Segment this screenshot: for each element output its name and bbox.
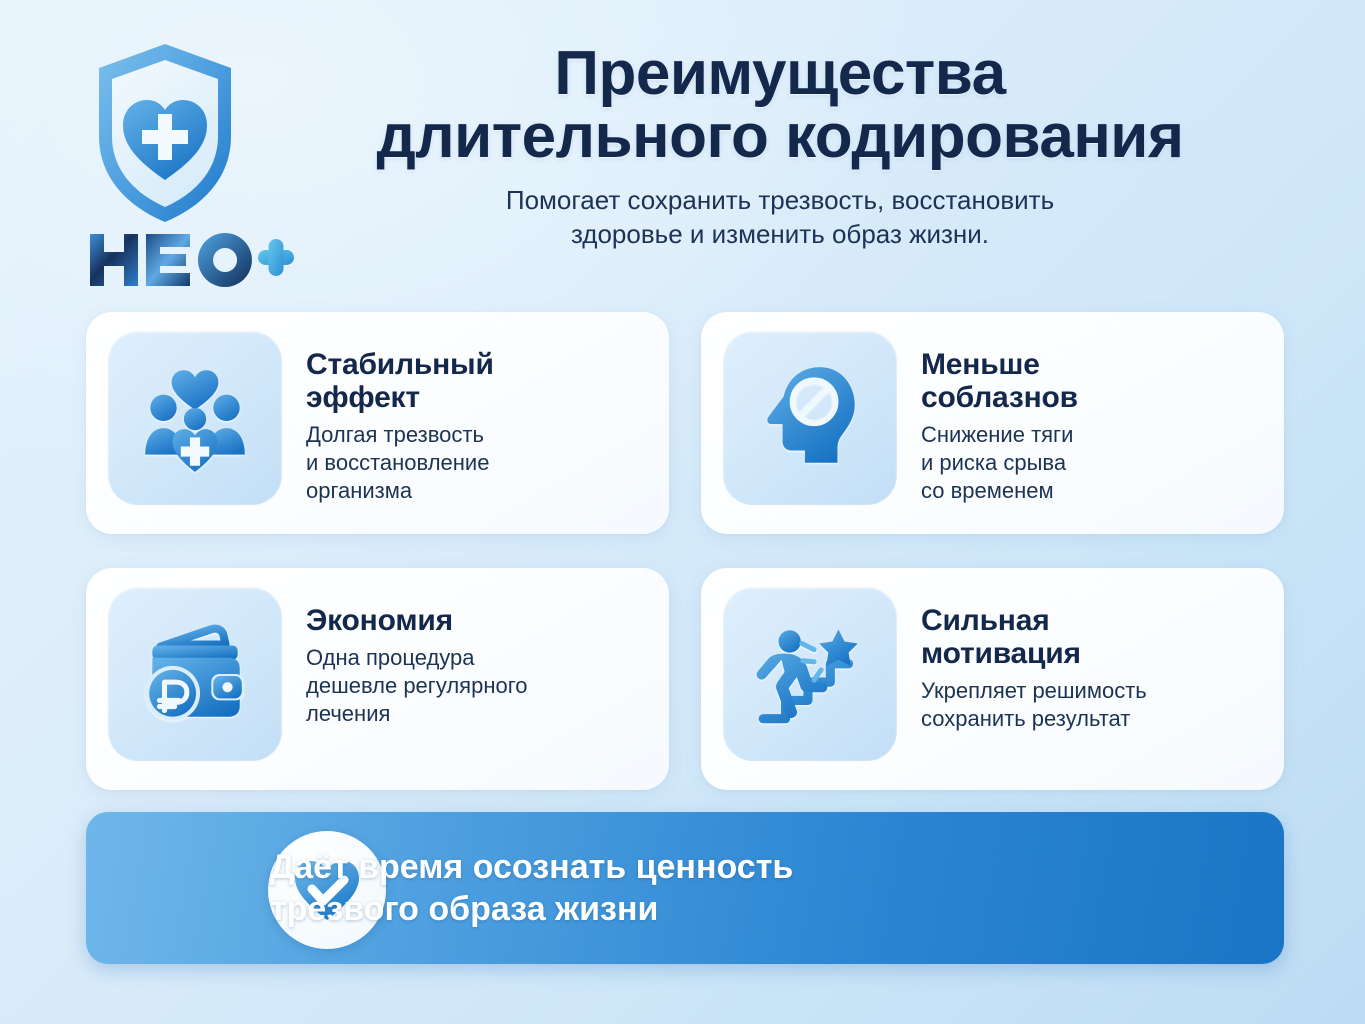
head-prohibition-icon [749, 357, 871, 479]
summary-banner-line-1: Даёт время осознать ценность [270, 846, 793, 888]
icon-tile [108, 331, 282, 505]
card-description: Долгая трезвость и восстановление органи… [306, 421, 494, 505]
card-title-line-2: соблазнов [921, 381, 1078, 414]
card-title-line-1: Сильная [921, 604, 1050, 637]
card-title-line-1: Экономия [306, 604, 453, 637]
family-heart-plus-icon [134, 357, 256, 479]
card-desc-line-2: и риска срыва [921, 449, 1078, 477]
card-desc-line-2: дешевле регулярного [306, 672, 527, 700]
benefit-card-strong-motivation[interactable]: Сильная мотивация Укрепляет решимость со… [701, 568, 1284, 790]
card-title-line-1: Меньше [921, 348, 1040, 381]
shield-heart-plus-icon [90, 40, 240, 226]
page-title-line-2: длительного кодирования [250, 105, 1310, 168]
benefit-card-stable-effect[interactable]: Стабильный эффект Долгая трезвость и вос… [86, 312, 669, 534]
card-text: Меньше соблазнов Снижение тяги и риска с… [921, 331, 1078, 505]
card-desc-line-1: Снижение тяги [921, 421, 1078, 449]
title-block: Преимущества длительного кодирования Пом… [250, 42, 1310, 252]
card-title-line-1: Стабильный [306, 348, 494, 381]
page-subtitle: Помогает сохранить трезвость, восстанови… [250, 184, 1310, 252]
page-title-line-1: Преимущества [554, 39, 1005, 108]
card-desc-line-3: со временем [921, 477, 1078, 505]
wallet-ruble-icon [134, 613, 256, 735]
benefits-grid: Стабильный эффект Долгая трезвость и вос… [86, 312, 1284, 790]
summary-banner-text: Даёт время осознать ценность трезвого об… [270, 846, 793, 930]
card-desc-line-3: организма [306, 477, 494, 505]
card-title-line-2: мотивация [921, 637, 1147, 670]
card-text: Экономия Одна процедура дешевле регулярн… [306, 587, 527, 728]
icon-tile [723, 331, 897, 505]
card-title-line-2: эффект [306, 381, 494, 414]
card-desc-line-2: сохранить результат [921, 705, 1147, 733]
card-desc-line-2: и восстановление [306, 449, 494, 477]
card-description: Снижение тяги и риска срыва со временем [921, 421, 1078, 505]
card-text: Стабильный эффект Долгая трезвость и вос… [306, 331, 494, 505]
card-desc-line-1: Укрепляет решимость [921, 677, 1147, 705]
card-desc-line-1: Одна процедура [306, 644, 527, 672]
icon-tile [108, 587, 282, 761]
page-subtitle-line-2: здоровье и изменить образ жизни. [571, 219, 989, 249]
card-text: Сильная мотивация Укрепляет решимость со… [921, 587, 1147, 733]
benefit-card-savings[interactable]: Экономия Одна процедура дешевле регулярн… [86, 568, 669, 790]
card-title: Стабильный эффект [306, 348, 494, 414]
card-desc-line-3: лечения [306, 700, 527, 728]
summary-banner[interactable]: Даёт время осознать ценность трезвого об… [86, 812, 1284, 964]
card-description: Одна процедура дешевле регулярного лечен… [306, 644, 527, 728]
page-title: Преимущества длительного кодирования [250, 42, 1310, 168]
header: Преимущества длительного кодирования Пом… [0, 0, 1365, 300]
page-subtitle-line-1: Помогает сохранить трезвость, восстанови… [506, 185, 1054, 215]
person-stairs-star-icon [749, 613, 871, 735]
card-description: Укрепляет решимость сохранить результат [921, 677, 1147, 733]
icon-tile [723, 587, 897, 761]
card-desc-line-1: Долгая трезвость [306, 421, 494, 449]
card-title: Меньше соблазнов [921, 348, 1078, 414]
card-title: Экономия [306, 604, 527, 637]
card-title: Сильная мотивация [921, 604, 1147, 670]
summary-banner-line-2: трезвого образа жизни [270, 888, 793, 930]
benefit-card-less-temptation[interactable]: Меньше соблазнов Снижение тяги и риска с… [701, 312, 1284, 534]
